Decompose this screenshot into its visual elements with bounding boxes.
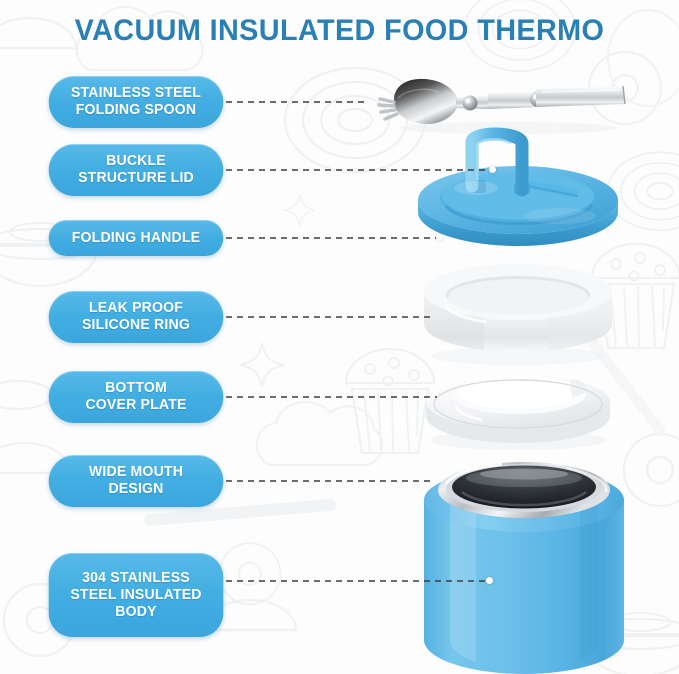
product-part-cover-plate [418,358,618,453]
callout-pill-label-line: BODY [62,604,209,621]
product-infographic: VACUUM INSULATED FOOD THERMO [0,0,679,674]
connector-dot-body [486,577,493,584]
callout-pill-stainless-steel-folding-spoon[interactable]: STAINLESS STEELFOLDING SPOON [49,76,224,128]
connector-dot-lid [489,166,496,173]
callout-pill-label-line: STRUCTURE LID [62,170,209,187]
callout-pill-label-line: BUCKLE [62,153,209,170]
callout-pill-label-line: LEAK PROOF [62,300,209,317]
product-part-silicone-ring [418,262,618,367]
product-part-buckle-lid [410,128,625,253]
page-title: VACUUM INSULATED FOOD THERMO [14,14,666,48]
callout-pill-label-line: FOLDING HANDLE [62,230,209,247]
callout-pill-304-stainless-steel-insulated-body[interactable]: 304 STAINLESSSTEEL INSULATEDBODY [49,553,224,637]
callout-pill-label-line: STAINLESS STEEL [62,85,209,102]
callout-pill-label-line: 304 STAINLESS [62,570,209,587]
callout-pill-label-line: BOTTOM [62,380,209,397]
callout-pill-leak-proof-silicone-ring[interactable]: LEAK PROOFSILICONE RING [49,291,224,343]
connector-dot-handle [436,234,443,241]
callout-pill-label-line: DESIGN [62,481,209,498]
callout-pill-label-line: SILICONE RING [62,317,209,334]
callout-pill-label-line: COVER PLATE [62,397,209,414]
callout-pill-bottom-cover-plate[interactable]: BOTTOMCOVER PLATE [49,371,224,423]
callout-pill-wide-mouth-design[interactable]: WIDE MOUTHDESIGN [49,455,224,507]
callout-pill-folding-handle[interactable]: FOLDING HANDLE [49,220,224,256]
callout-pill-label-line: WIDE MOUTH [62,464,209,481]
callout-pill-buckle-structure-lid[interactable]: BUCKLESTRUCTURE LID [49,144,224,196]
callout-pill-label-line: FOLDING SPOON [62,102,209,119]
product-part-thermo-body [416,444,632,674]
callout-pill-label-line: STEEL INSULATED [62,587,209,604]
